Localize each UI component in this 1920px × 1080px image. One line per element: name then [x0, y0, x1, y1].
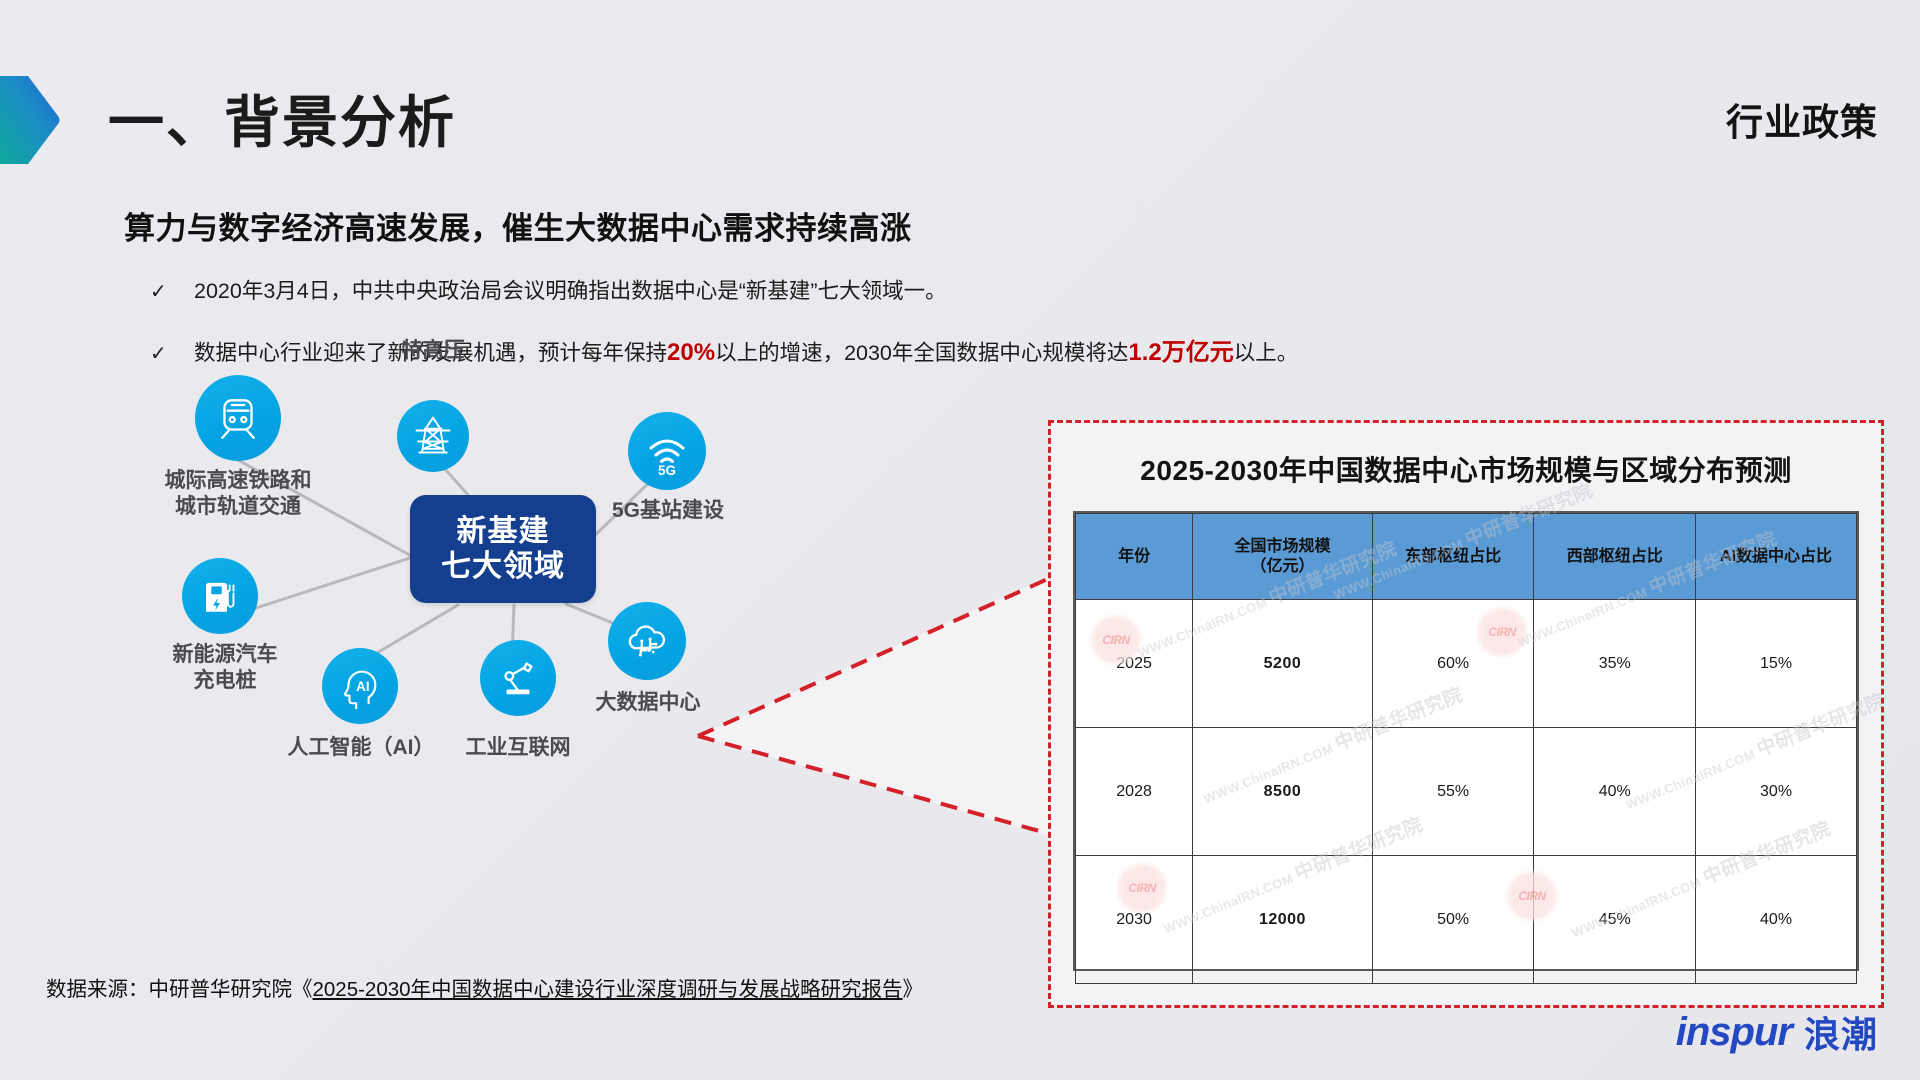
bullet-item-1: ✓ 2020年3月4日，中共中央政治局会议明确指出数据中心是“新基建”七大领域一…: [150, 274, 947, 305]
bullet-2-highlight-scale: 1.2万亿元: [1128, 332, 1233, 367]
cell-year: 2028: [1076, 728, 1193, 856]
cell-ai-share: 40%: [1696, 856, 1857, 984]
cell-year: 2025: [1076, 600, 1193, 728]
forecast-table: 年份 全国市场规模 （亿元） 东部枢纽占比 西部枢纽占比: [1075, 513, 1857, 984]
source-note: 数据来源：中研普华研究院《2025-2030年中国数据中心建设行业深度调研与发展…: [46, 972, 923, 1002]
node-data-center[interactable]: [608, 602, 686, 680]
bullet-item-2: ✓ 数据中心行业迎来了新的发展机遇，预计每年保持 20% 以上的增速，2030年…: [150, 332, 1298, 367]
bullet-2-mid: 以上的增速，2030年全国数据中心规模将达: [715, 336, 1128, 367]
center-line-2: 七大领域: [441, 549, 565, 584]
cell-market-size: 12000: [1193, 856, 1373, 984]
train-icon: [213, 393, 263, 443]
node-label-rail: 城际高速铁路和 城市轨道交通: [118, 468, 358, 519]
node-ai[interactable]: AI: [322, 648, 398, 724]
check-icon: ✓: [150, 279, 194, 304]
table-row: 2025 5200 60% 35% 15%: [1076, 600, 1857, 728]
table-row: 2028 8500 55% 40% 30%: [1076, 728, 1857, 856]
check-icon: ✓: [150, 341, 194, 366]
node-rail[interactable]: [195, 375, 281, 461]
svg-text:5G: 5G: [658, 463, 676, 478]
forecast-table-wrapper: CIRN CIRN CIRN CIRN WWW.ChinaIRN.COM 中研普…: [1073, 511, 1859, 971]
callout-wedge: [690, 576, 1060, 836]
wifi-5g-icon: 5G: [639, 423, 695, 479]
node-label-ev-charger: 新能源汽车 充电桩: [135, 642, 315, 693]
node-industrial-internet[interactable]: [480, 640, 556, 716]
cell-market-size: 5200: [1193, 600, 1373, 728]
col-header-east-share: 东部枢纽占比: [1372, 514, 1534, 600]
inspur-logo: inspur 浪潮: [1676, 1006, 1878, 1058]
cell-ai-share: 15%: [1696, 600, 1857, 728]
source-suffix: 》: [903, 978, 924, 1001]
slide-root: 一、背景分析 行业政策 算力与数字经济高速发展，催生大数据中心需求持续高涨 ✓ …: [0, 0, 1920, 1080]
cell-east-share: 50%: [1372, 856, 1534, 984]
cell-west-share: 35%: [1534, 600, 1696, 728]
source-report-link[interactable]: 2025-2030年中国数据中心建设行业深度调研与发展战略研究报告: [313, 978, 903, 1001]
panel-title: 2025-2030年中国数据中心市场规模与区域分布预测: [1051, 449, 1881, 489]
col-header-year: 年份: [1076, 514, 1193, 600]
slide-subtitle: 算力与数字经济高速发展，催生大数据中心需求持续高涨: [124, 203, 912, 248]
cell-east-share: 55%: [1372, 728, 1534, 856]
chevron-right-gradient-icon: [0, 76, 60, 164]
logo-cn: 浪潮: [1804, 1006, 1878, 1058]
svg-text:AI: AI: [356, 679, 369, 694]
ev-charger-icon: [199, 575, 241, 617]
forecast-panel: 2025-2030年中国数据中心市场规模与区域分布预测 CIRN CIRN CI…: [1048, 420, 1884, 1008]
page-title: 一、背景分析: [108, 78, 456, 159]
robot-arm-icon: [495, 655, 541, 701]
node-5g[interactable]: 5G: [628, 412, 706, 490]
node-label-5g: 5G基站建设: [581, 498, 755, 524]
node-ev-charger[interactable]: [182, 558, 258, 634]
node-uhv[interactable]: [397, 400, 469, 472]
cell-west-share: 40%: [1534, 728, 1696, 856]
cell-east-share: 60%: [1372, 600, 1534, 728]
table-header-row: 年份 全国市场规模 （亿元） 东部枢纽占比 西部枢纽占比: [1076, 514, 1857, 600]
cell-year: 2030: [1076, 856, 1193, 984]
col-header-ai-share: AI数据中心占比: [1696, 514, 1857, 600]
ai-head-icon: AI: [337, 663, 383, 709]
cell-market-size: 8500: [1193, 728, 1373, 856]
bullet-2-highlight-growth: 20%: [667, 339, 715, 367]
node-label-uhv: 特高压: [347, 338, 519, 364]
source-prefix: 数据来源：中研普华研究院《: [46, 978, 313, 1001]
section-tag: 行业政策: [1726, 92, 1878, 146]
col-header-west-share: 西部枢纽占比: [1534, 514, 1696, 600]
node-label-industrial-internet: 工业互联网: [431, 735, 605, 761]
bullet-2-post: 以上。: [1234, 336, 1299, 367]
cell-ai-share: 30%: [1696, 728, 1857, 856]
node-label-ai: 人工智能（AI）: [272, 735, 450, 761]
bullet-1-text: 2020年3月4日，中共中央政治局会议明确指出数据中心是“新基建”七大领域一。: [194, 274, 947, 305]
logo-en: inspur: [1676, 1010, 1792, 1055]
col-header-market-size: 全国市场规模 （亿元）: [1193, 514, 1373, 600]
cell-west-share: 45%: [1534, 856, 1696, 984]
center-line-1: 新基建: [457, 514, 550, 549]
power-tower-icon: [411, 414, 455, 458]
cloud-chip-icon: [622, 616, 672, 666]
table-row: 2030 12000 50% 45% 40%: [1076, 856, 1857, 984]
center-node-new-infrastructure: 新基建 七大领域: [410, 495, 596, 603]
